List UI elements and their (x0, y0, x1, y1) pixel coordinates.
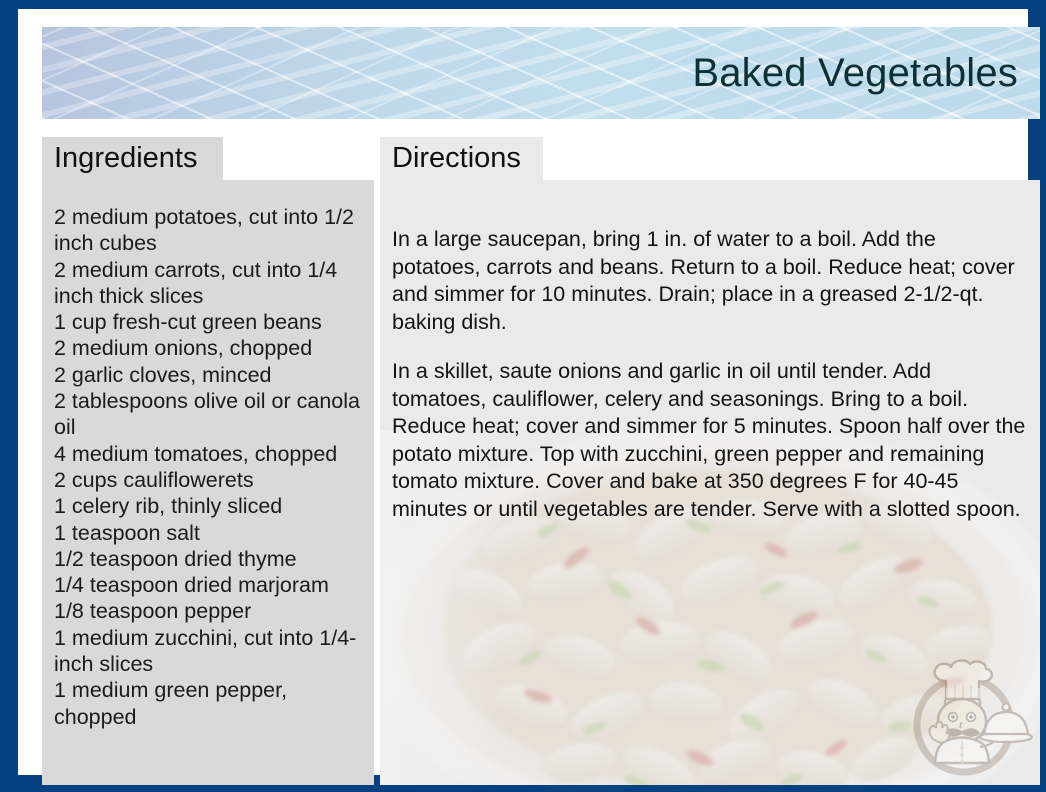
directions-panel-body: In a large saucepan, bring 1 in. of wate… (380, 180, 1040, 523)
ingredient-item: 1/8 teaspoon pepper (54, 598, 364, 624)
ingredient-item: 2 cups cauliflowerets (54, 467, 364, 493)
ingredient-item: 2 garlic cloves, minced (54, 362, 364, 388)
tab-directions[interactable]: Directions (380, 137, 543, 180)
ingredient-item: 4 medium tomatoes, chopped (54, 441, 364, 467)
ingredients-panel: 2 medium potatoes, cut into 1/2 inch cub… (42, 180, 374, 785)
tab-directions-label: Directions (392, 142, 521, 175)
ingredients-list: 2 medium potatoes, cut into 1/2 inch cub… (54, 204, 364, 730)
header-banner: Baked Vegetables (42, 27, 1040, 119)
directions-panel: In a large saucepan, bring 1 in. of wate… (380, 180, 1040, 785)
content-area: Ingredients 2 medium potatoes, cut into … (42, 137, 1040, 785)
recipe-card-inner: Baked Vegetables Ingredients 2 medium po… (18, 9, 1028, 775)
ingredient-item: 1/4 teaspoon dried marjoram (54, 572, 364, 598)
ingredient-item: 1 teaspoon salt (54, 520, 364, 546)
tab-ingredients[interactable]: Ingredients (42, 137, 223, 180)
ingredient-item: 2 medium carrots, cut into 1/4 inch thic… (54, 257, 364, 310)
ingredient-item: 1 cup fresh-cut green beans (54, 309, 364, 335)
chef-logo-icon (902, 655, 1034, 781)
tab-ingredients-label: Ingredients (54, 142, 198, 175)
ingredient-item: 1 celery rib, thinly sliced (54, 493, 364, 519)
direction-paragraph: In a large saucepan, bring 1 in. of wate… (392, 226, 1030, 336)
ingredient-item: 2 medium potatoes, cut into 1/2 inch cub… (54, 204, 364, 257)
ingredient-item: 1/2 teaspoon dried thyme (54, 546, 364, 572)
direction-paragraph: In a skillet, saute onions and garlic in… (392, 358, 1030, 523)
ingredient-item: 2 tablespoons olive oil or canola oil (54, 388, 364, 441)
ingredient-item: 1 medium green pepper, chopped (54, 677, 364, 730)
ingredients-panel-body: 2 medium potatoes, cut into 1/2 inch cub… (42, 180, 374, 730)
recipe-card-frame: Baked Vegetables Ingredients 2 medium po… (0, 0, 1046, 792)
ingredient-item: 2 medium onions, chopped (54, 335, 364, 361)
ingredient-item: 1 medium zucchini, cut into 1/4-inch sli… (54, 625, 364, 678)
page-title: Baked Vegetables (692, 53, 1018, 93)
directions-text: In a large saucepan, bring 1 in. of wate… (392, 204, 1030, 523)
